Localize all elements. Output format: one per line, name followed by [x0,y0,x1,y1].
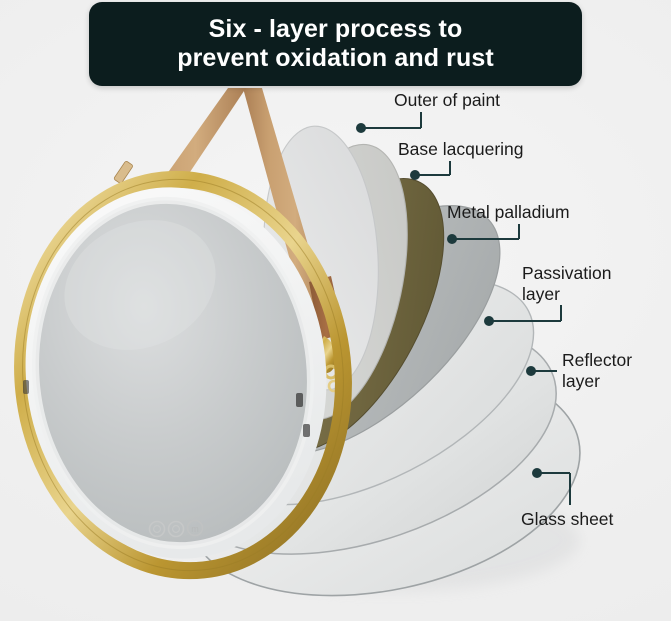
infographic-page: m Outer of paint Base lacquering Metal p… [0,0,671,621]
callout-glass-sheet: Glass sheet [521,509,613,530]
callout-passivation-layer: Passivation layer [522,263,612,304]
callout-metal-palladium: Metal palladium [447,202,570,223]
callout-reflector-layer: Reflector layer [562,350,632,391]
callout-base-lacquering: Base lacquering [398,139,524,160]
callout-outer-of-paint: Outer of paint [394,90,500,111]
banner-title: Six - layer process to prevent oxidation… [165,15,506,74]
svg-text:m: m [191,524,199,534]
title-banner: Six - layer process to prevent oxidation… [89,2,582,86]
